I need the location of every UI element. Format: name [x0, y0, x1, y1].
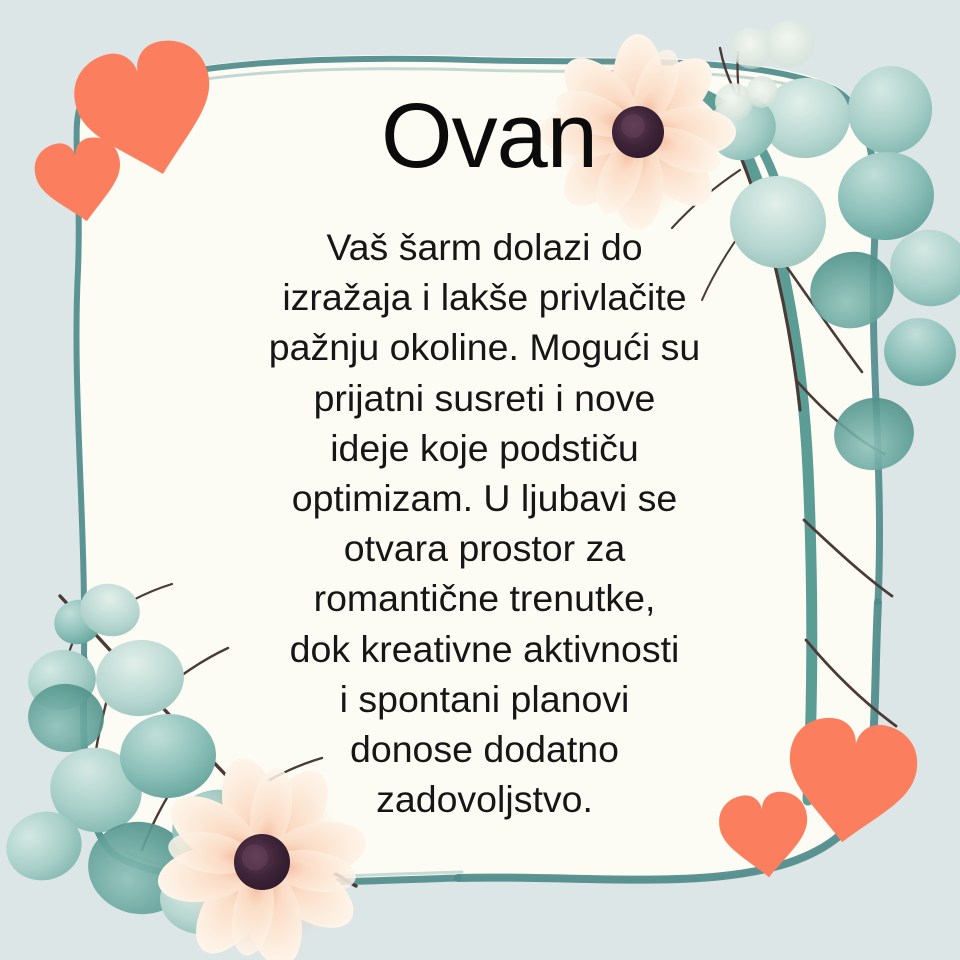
- page-title: Ovan: [0, 88, 960, 184]
- bud: [766, 20, 814, 68]
- body-line: pažnju okoline. Mogući su: [232, 322, 737, 372]
- body-line: i spontani planovi: [232, 674, 737, 724]
- body-line: romantične trenutke,: [232, 573, 737, 623]
- body-line: optimizam. U ljubavi se: [232, 473, 737, 523]
- body-line: Vaš šarm dolazi do: [232, 222, 737, 272]
- horoscope-card: Ovan Vaš šarm dolazi do izražaja i lakše…: [0, 0, 960, 960]
- body-line: prijatni susreti i nove: [232, 373, 737, 423]
- body-line: zadovoljstvo.: [232, 774, 737, 824]
- body-line: ideje koje podstiču: [232, 423, 737, 473]
- body-line: izražaja i lakše privlačite: [232, 272, 737, 322]
- horoscope-body: Vaš šarm dolazi do izražaja i lakše priv…: [232, 222, 737, 824]
- body-line: dok kreativne aktivnosti: [232, 624, 737, 674]
- body-line: donose dodatno: [232, 724, 737, 774]
- body-line: otvara prostor za: [232, 523, 737, 573]
